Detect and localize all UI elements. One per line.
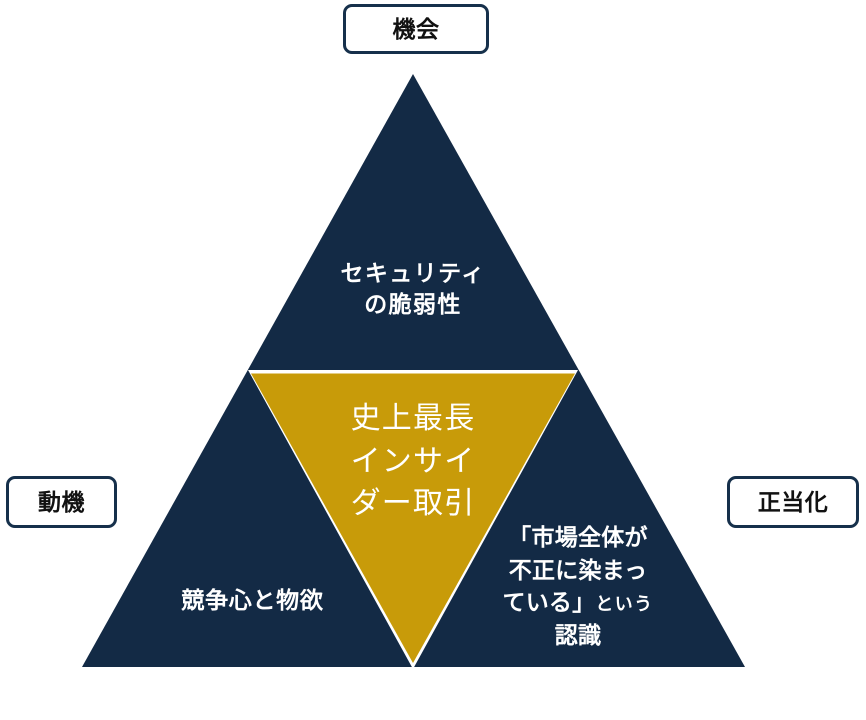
corner-label-opportunity-text: 機会 <box>393 18 440 41</box>
corner-label-motive-text: 動機 <box>38 491 85 514</box>
fraud-triangle-graphic <box>0 0 866 720</box>
corner-label-opportunity[interactable]: 機会 <box>343 4 489 54</box>
corner-label-rationalization[interactable]: 正当化 <box>727 476 859 528</box>
diagram-canvas: 機会 動機 正当化 セキュリティ の脆弱性 史上最長 インサイ ダー取引 競争心… <box>0 0 866 720</box>
corner-label-rationalization-text: 正当化 <box>758 491 828 514</box>
corner-label-motive[interactable]: 動機 <box>6 476 117 528</box>
